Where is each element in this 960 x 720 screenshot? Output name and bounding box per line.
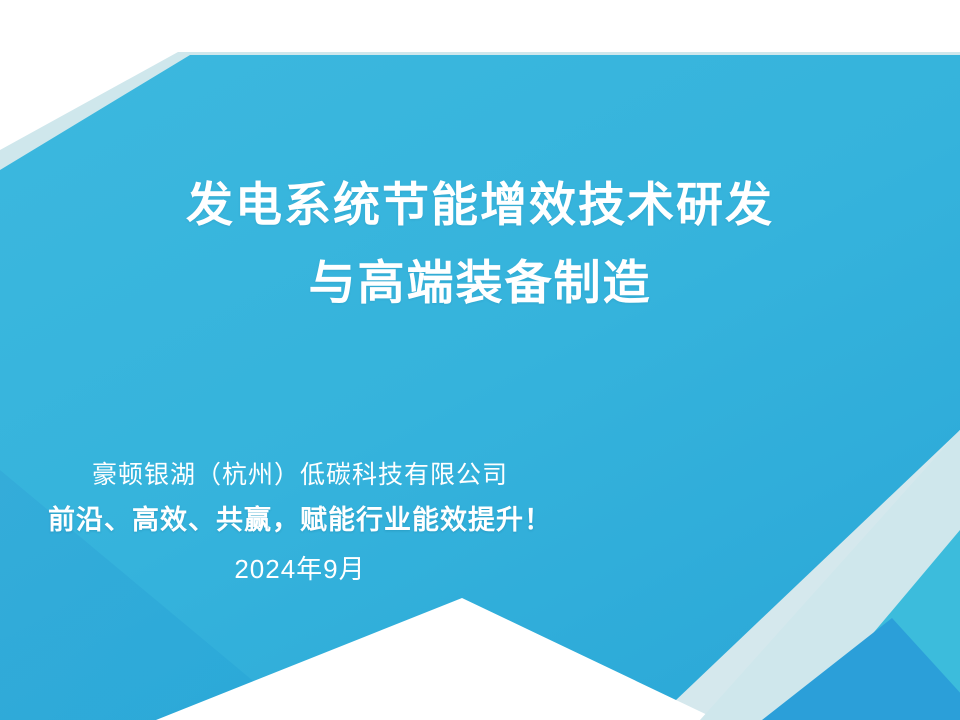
slide-content: 发电系统节能增效技术研发 与高端装备制造 豪顿银湖（杭州）低碳科技有限公司 前沿… bbox=[0, 0, 960, 720]
title-slide: 发电系统节能增效技术研发 与高端装备制造 豪顿银湖（杭州）低碳科技有限公司 前沿… bbox=[0, 0, 960, 720]
presentation-date: 2024年9月 bbox=[0, 546, 600, 592]
title-line-2: 与高端装备制造 bbox=[0, 244, 960, 322]
title-line-1: 发电系统节能增效技术研发 bbox=[0, 166, 960, 244]
slide-footer: 豪顿银湖（杭州）低碳科技有限公司 前沿、高效、共赢，赋能行业能效提升！ 2024… bbox=[0, 458, 600, 592]
company-name: 豪顿银湖（杭州）低碳科技有限公司 bbox=[0, 458, 600, 494]
company-slogan: 前沿、高效、共赢，赋能行业能效提升！ bbox=[0, 494, 600, 546]
page-title: 发电系统节能增效技术研发 与高端装备制造 bbox=[0, 166, 960, 322]
